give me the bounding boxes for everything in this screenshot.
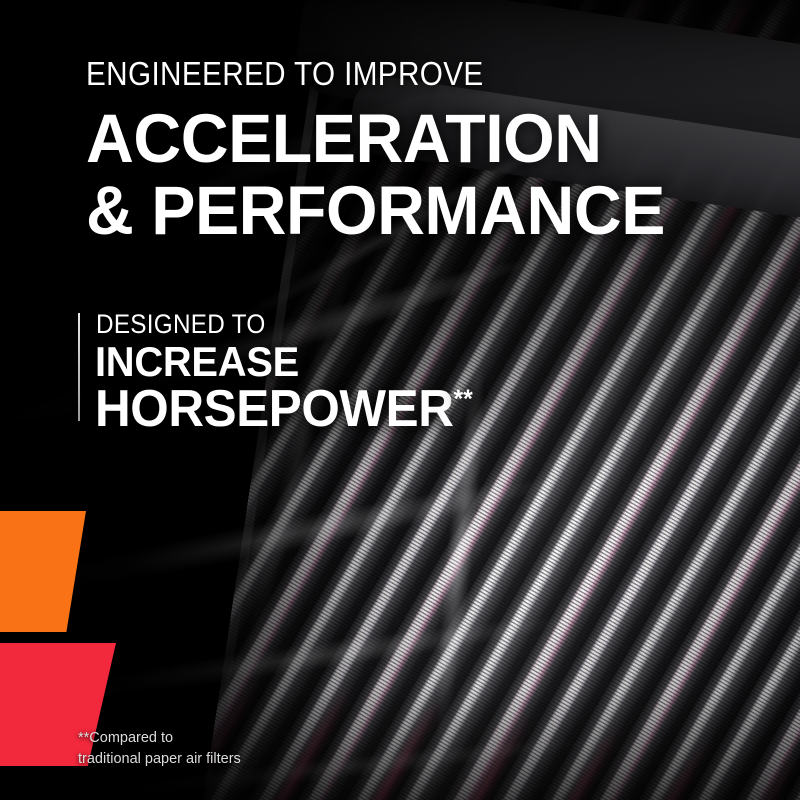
subhead-vertical-rule: [78, 313, 80, 421]
subhead-line-2-text: HORSEPOWER: [95, 380, 454, 438]
headline-line-2: & PERFORMANCE: [86, 176, 665, 245]
subhead-line-2: HORSEPOWER**: [95, 383, 473, 435]
subhead-eyebrow-text: DESIGNED TO: [96, 311, 266, 338]
footnote-text: **Compared to traditional paper air filt…: [78, 728, 241, 769]
footnote-marker: **: [454, 384, 473, 414]
headline-line-1: ACCELERATION: [86, 104, 602, 173]
product-banner: ENGINEERED TO IMPROVE ACCELERATION & PER…: [0, 0, 800, 800]
eyebrow-text: ENGINEERED TO IMPROVE: [86, 57, 484, 90]
subhead-line-1: INCREASE: [95, 341, 299, 383]
marketing-copy: ENGINEERED TO IMPROVE ACCELERATION & PER…: [0, 0, 800, 800]
